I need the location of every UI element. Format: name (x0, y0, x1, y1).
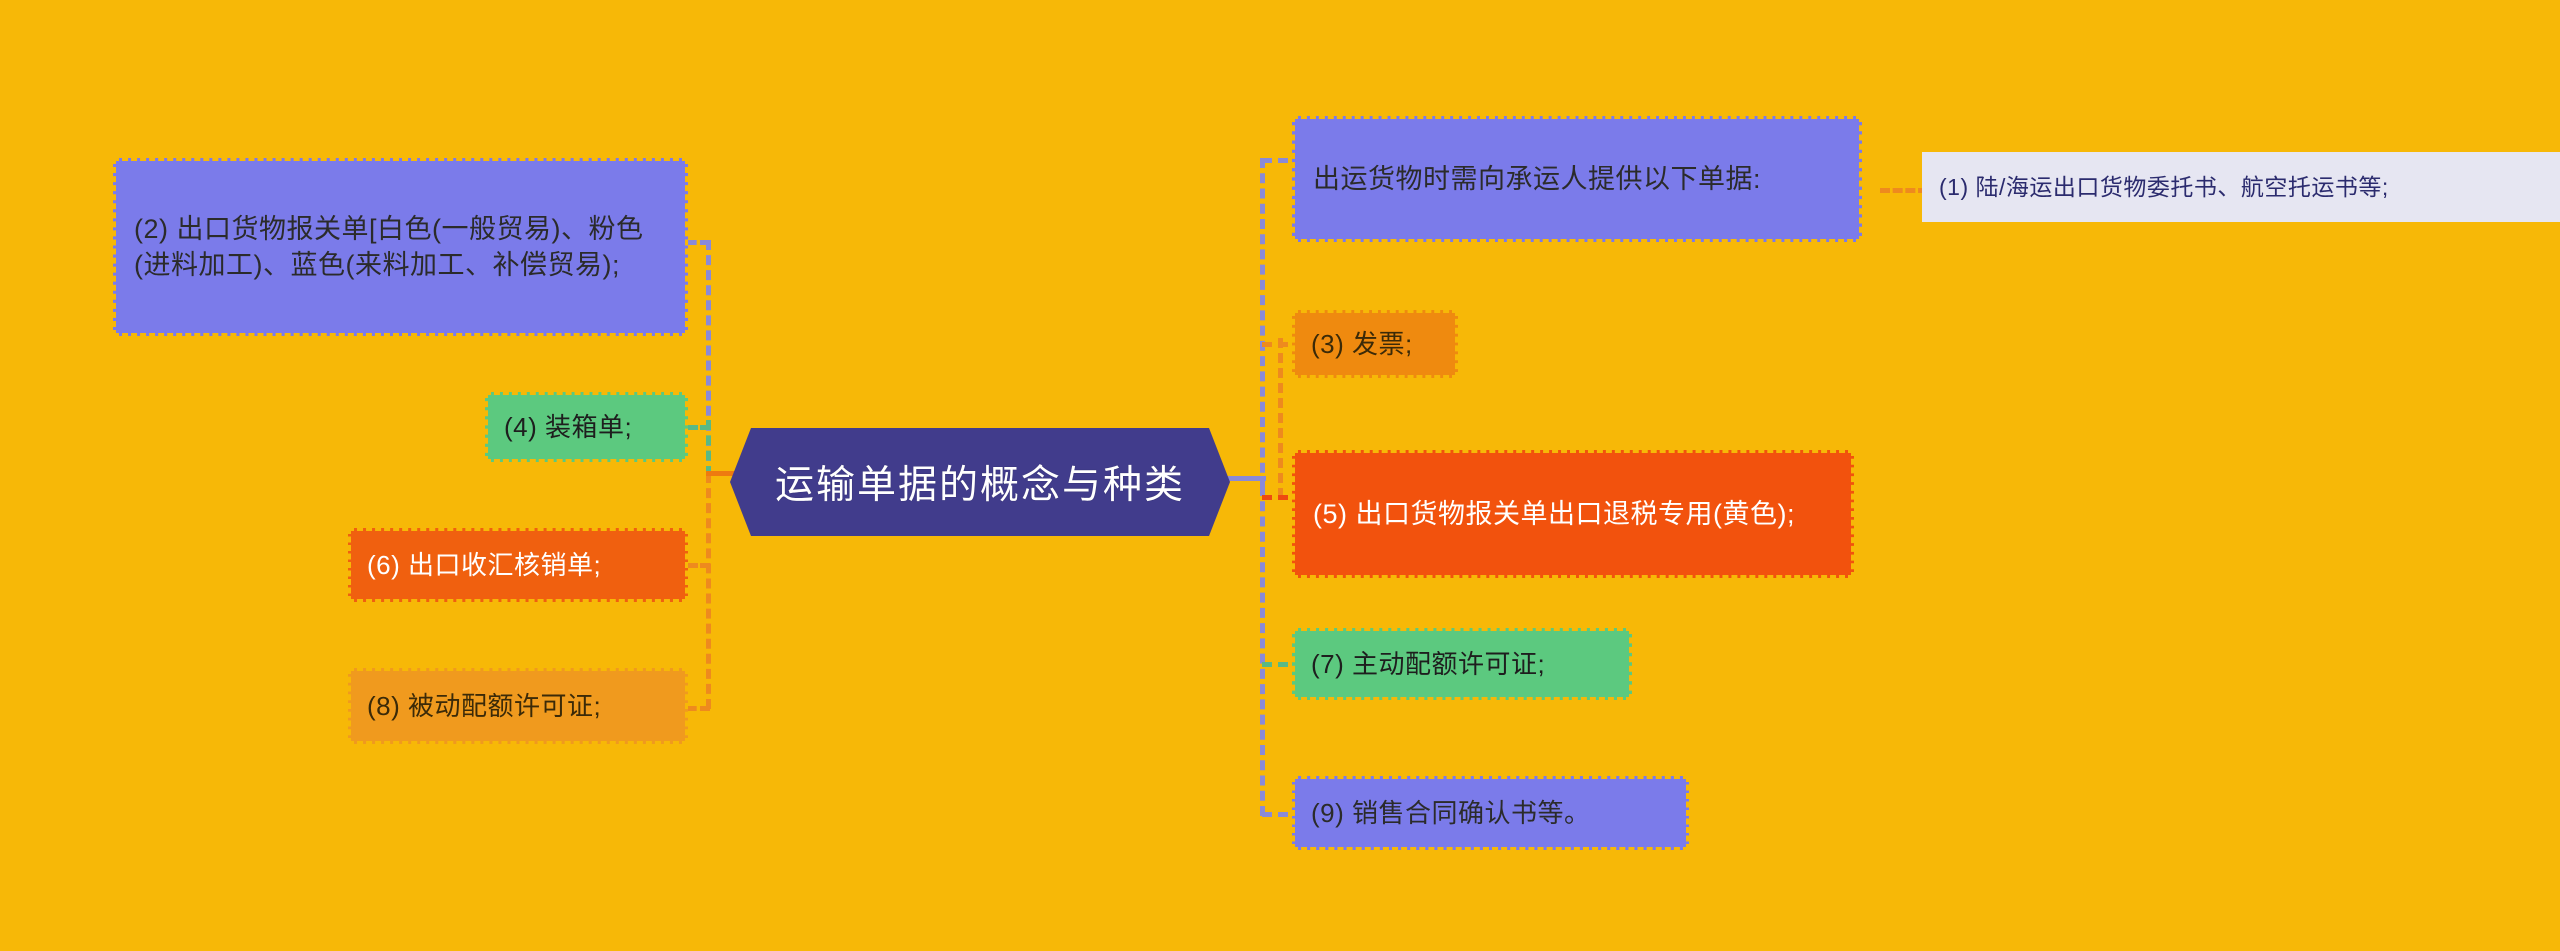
node-4-label: (4) 装箱单; (504, 410, 669, 445)
node-4[interactable]: (4) 装箱单; (485, 392, 688, 462)
node-2[interactable]: (2) 出口货物报关单[白色(一般贸易)、粉色(进料加工)、蓝色(来料加工、补偿… (113, 158, 688, 336)
node-6-label: (6) 出口收汇核销单; (367, 548, 669, 583)
node-3[interactable]: (3) 发票; (1292, 310, 1458, 378)
hub-left-connector (706, 471, 736, 476)
node-3-label: (3) 发票; (1311, 327, 1439, 362)
node-intro-label: 出运货物时需向承运人提供以下单据: (1313, 161, 1841, 197)
node-1[interactable]: (1) 陆/海运出口货物委托书、航空托运书等; (1922, 152, 2560, 222)
node-intro[interactable]: 出运货物时需向承运人提供以下单据: (1292, 116, 1862, 242)
right-trunk-segment-peri-lower (1260, 486, 1265, 816)
node-8[interactable]: (8) 被动配额许可证; (348, 668, 688, 744)
center-node[interactable]: 运输单据的概念与种类 (730, 428, 1230, 536)
left-trunk-segment-orange (706, 473, 711, 709)
node-7-label: (7) 主动配额许可证; (1311, 647, 1613, 682)
far-right-stub-node-1 (1880, 188, 1928, 193)
node-5[interactable]: (5) 出口货物报关单出口退税专用(黄色); (1292, 450, 1854, 578)
center-node-label: 运输单据的概念与种类 (775, 454, 1185, 510)
right-trunk-segment-peri-upper (1260, 158, 1265, 488)
node-8-label: (8) 被动配额许可证; (367, 689, 669, 724)
node-2-label: (2) 出口货物报关单[白色(一般贸易)、粉色(进料加工)、蓝色(来料加工、补偿… (134, 211, 667, 283)
right-trunk-segment-orange (1278, 338, 1283, 498)
node-5-label: (5) 出口货物报关单出口退税专用(黄色); (1313, 496, 1833, 532)
node-9-label: (9) 销售合同确认书等。 (1311, 796, 1670, 831)
node-6[interactable]: (6) 出口收汇核销单; (348, 528, 688, 602)
node-9[interactable]: (9) 销售合同确认书等。 (1292, 776, 1689, 850)
node-1-label: (1) 陆/海运出口货物委托书、航空托运书等; (1939, 172, 2543, 203)
node-7[interactable]: (7) 主动配额许可证; (1292, 628, 1632, 700)
mindmap-canvas: 运输单据的概念与种类 (2) 出口货物报关单[白色(一般贸易)、粉色(进料加工)… (0, 0, 2560, 951)
hub-right-connector (1228, 476, 1266, 481)
